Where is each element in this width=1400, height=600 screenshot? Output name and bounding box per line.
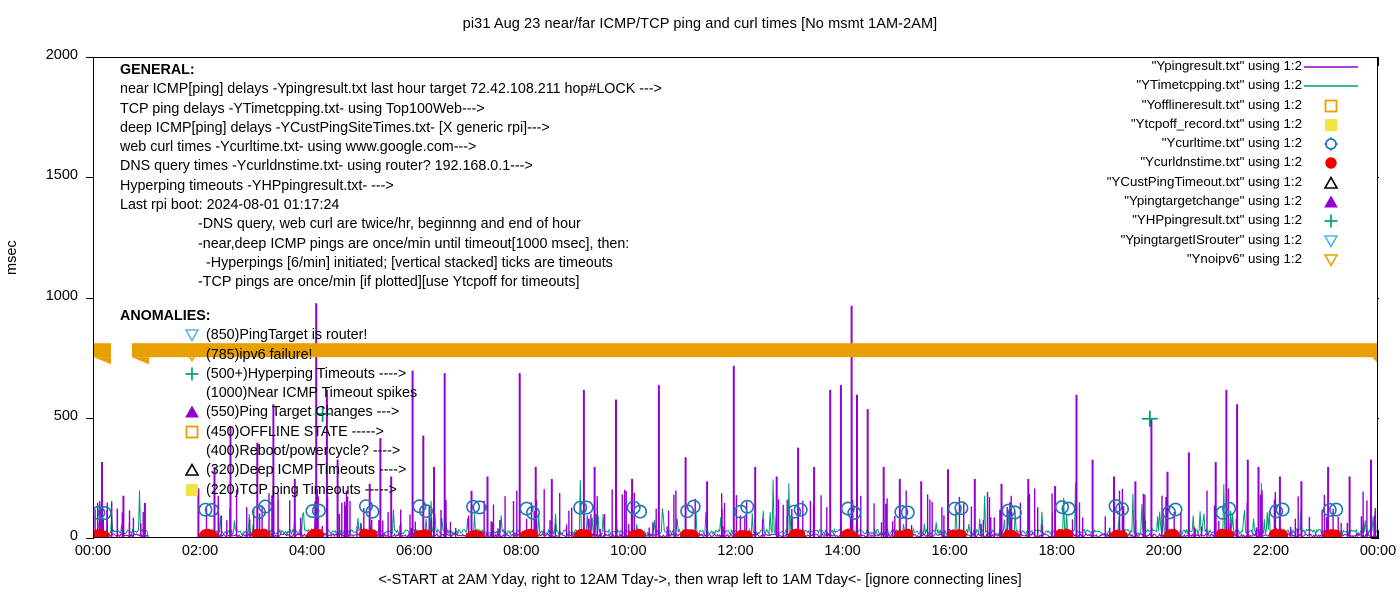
x-tick-label: 18:00 [1022, 543, 1092, 559]
anomalies-heading: ANOMALIES: [120, 307, 417, 326]
legend-item-ypingtargetchange: "Ypingtargetchange" using 1:2 [1000, 193, 1380, 212]
anomaly-row: (320)Deep ICMP Timeouts ----> [120, 461, 417, 480]
legend-item-ycurltime: "Ycurltime.txt" using 1:2 [1000, 135, 1380, 154]
data-point-dns [902, 529, 913, 538]
x-tick-label: 16:00 [915, 543, 985, 559]
general-line: Hyperping timeouts -YHPpingresult.txt- -… [120, 177, 662, 196]
anomaly-label: (450)OFFLINE STATE -----> [206, 424, 384, 440]
legend-key-ypingtargetchange-icon [1302, 193, 1360, 212]
general-line: DNS query times -Ycurldnstime.txt- using… [120, 157, 662, 176]
anomaly-row: (400)Reboot/powercycle? ----> [120, 442, 417, 461]
legend-label: "Ynoipv6" using 1:2 [1187, 251, 1302, 266]
legend-label: "Ytcpoff_record.txt" using 1:2 [1131, 116, 1302, 131]
legend-key-ytcpoff_record-icon [1302, 116, 1360, 135]
general-lines: near ICMP[ping] delays -Ypingresult.txt … [120, 80, 662, 215]
y-axis-label: msec [4, 240, 20, 275]
anomaly-row: (500+)Hyperping Timeouts ----> [120, 365, 417, 384]
legend-key-ycustpingtimeout-icon [1302, 174, 1360, 193]
legend-item-ypingtargetisrouter: "YpingtargetISrouter" using 1:2 [1000, 232, 1380, 251]
x-tick-label: 06:00 [379, 543, 449, 559]
anomaly-label: (550)Ping Target Changes ---> [206, 404, 399, 420]
legend-item-ycurldnstime: "Ycurldnstime.txt" using 1:2 [1000, 154, 1380, 173]
y-tick-label: 0 [18, 528, 78, 544]
anomaly-label: (500+)Hyperping Timeouts ----> [206, 366, 406, 382]
legend-label: "Ypingresult.txt" using 1:2 [1152, 58, 1302, 73]
legend-key-ypingtargetisrouter-icon [1302, 232, 1360, 251]
series-ycurltime-points [94, 500, 1342, 519]
chart-title: pi31 Aug 23 near/far ICMP/TCP ping and c… [0, 16, 1400, 32]
data-point-dns [955, 530, 966, 538]
data-point-dns [1223, 530, 1234, 538]
x-tick-label: 10:00 [593, 543, 663, 559]
anomaly-row: (220)TCP ping Timeouts -----> [120, 481, 417, 500]
data-point-dns [420, 530, 431, 538]
legend-item-ytimetcpping: "YTimetcpping.txt" using 1:2 [1000, 77, 1380, 96]
y-tick-mark [86, 538, 94, 539]
data-point-dns [1330, 531, 1341, 538]
general-indented-line: -DNS query, web curl are twice/hr, begin… [120, 215, 662, 234]
x-tick-label: 12:00 [701, 543, 771, 559]
data-point-dns [1117, 531, 1128, 538]
x-tick-label: 22:00 [1236, 543, 1306, 559]
general-indented-line: -TCP pings are once/min [if plotted][use… [120, 273, 662, 292]
anomalies-block: ANOMALIES: (850)PingTarget is router!(78… [120, 307, 417, 500]
series-yhppingresult-points [315, 406, 1158, 427]
y-tick-label: 500 [18, 408, 78, 424]
legend-label: "Yofflineresult.txt" using 1:2 [1142, 97, 1302, 112]
legend: "Ypingresult.txt" using 1:2"YTimetcpping… [1000, 58, 1380, 270]
anomaly-marker-plus-teal-icon [184, 366, 202, 383]
x-tick-label: 14:00 [808, 543, 878, 559]
anomaly-marker-square-open-orange-icon [184, 424, 202, 441]
x-tick-mark [1378, 530, 1379, 538]
general-heading: GENERAL: [120, 61, 662, 80]
anomaly-row: (1000)Near ICMP Timeout spikes [120, 384, 417, 403]
x-tick-label: 02:00 [165, 543, 235, 559]
legend-key-ytimetcpping-icon [1302, 77, 1360, 96]
data-point-dns [206, 530, 217, 538]
general-notes-block: GENERAL: near ICMP[ping] delays -Ypingre… [120, 61, 662, 293]
legend-item-yofflineresult: "Yofflineresult.txt" using 1:2 [1000, 97, 1380, 116]
data-point-dns [313, 529, 324, 538]
legend-label: "Ycurldnstime.txt" using 1:2 [1140, 154, 1302, 169]
anomaly-marker-square-filled-yellow-icon [184, 482, 202, 499]
anomaly-row: (850)PingTarget is router! [120, 326, 417, 345]
anomaly-row: (450)OFFLINE STATE -----> [120, 423, 417, 442]
general-line: TCP ping delays -YTimetcpping.txt- using… [120, 100, 662, 119]
data-point-dns [581, 530, 592, 538]
x-tick-label: 00:00 [1343, 543, 1400, 559]
data-point-dns [742, 531, 753, 538]
legend-item-yhppingresult: "YHPpingresult.txt" using 1:2 [1000, 212, 1380, 231]
anomaly-label: (320)Deep ICMP Timeouts ----> [206, 462, 406, 478]
anomaly-row: (785)ipv6 failure! [120, 346, 417, 365]
legend-key-ycurltime-icon [1302, 135, 1360, 154]
data-point-dns [527, 531, 538, 538]
anomaly-marker-triangle-open-black-icon [184, 462, 202, 479]
general-line: deep ICMP[ping] delays -YCustPingSiteTim… [120, 119, 662, 138]
legend-label: "Ycurltime.txt" using 1:2 [1162, 135, 1302, 150]
anomaly-marker-invtriangle-open-orange-icon [184, 347, 202, 364]
general-indented-lines: -DNS query, web curl are twice/hr, begin… [120, 215, 662, 292]
legend-key-ypingresult-icon [1302, 58, 1360, 77]
y-tick-label: 1000 [18, 288, 78, 304]
legend-label: "YTimetcpping.txt" using 1:2 [1136, 77, 1302, 92]
legend-item-ypingresult: "Ypingresult.txt" using 1:2 [1000, 58, 1380, 77]
legend-key-yofflineresult-icon [1302, 97, 1360, 116]
anomaly-label: (1000)Near ICMP Timeout spikes [206, 385, 417, 401]
anomalies-rows: (850)PingTarget is router!(785)ipv6 fail… [120, 326, 417, 500]
x-tick-label: 20:00 [1129, 543, 1199, 559]
chart-page: pi31 Aug 23 near/far ICMP/TCP ping and c… [0, 0, 1400, 600]
y-tick-label: 1500 [18, 167, 78, 183]
data-point-dns [1009, 532, 1020, 538]
general-indented-line: -near,deep ICMP pings are once/min until… [120, 235, 662, 254]
data-point-dns [688, 531, 699, 539]
data-point-dns [474, 531, 485, 538]
anomaly-marker-invtriangle-open-blue-icon [184, 327, 202, 344]
data-point-dns [1277, 530, 1288, 538]
data-point-dns [366, 530, 377, 538]
anomaly-row: (550)Ping Target Changes ---> [120, 403, 417, 422]
ynoipv6-marker-tail [1372, 357, 1378, 364]
legend-label: "YHPpingresult.txt" using 1:2 [1132, 212, 1302, 227]
ynoipv6-marker-tail [94, 357, 111, 364]
y-tick-mark-right [1371, 538, 1379, 539]
legend-label: "Ypingtargetchange" using 1:2 [1124, 193, 1302, 208]
legend-item-ycustpingtimeout: "YCustPingTimeout.txt" using 1:2 [1000, 174, 1380, 193]
x-tick-label: 04:00 [272, 543, 342, 559]
data-point-dns [634, 532, 645, 538]
legend-label: "YpingtargetISrouter" using 1:2 [1121, 232, 1302, 247]
legend-item-ynoipv6: "Ynoipv6" using 1:2 [1000, 251, 1380, 270]
general-line: Last rpi boot: 2024-08-01 01:17:24 [120, 196, 662, 215]
legend-key-ycurldnstime-icon [1302, 154, 1360, 173]
legend-label: "YCustPingTimeout.txt" using 1:2 [1107, 174, 1302, 189]
anomaly-label: (220)TCP ping Timeouts -----> [206, 482, 397, 498]
anomaly-marker-triangle-filled-purple-icon [184, 404, 202, 421]
legend-key-ynoipv6-icon [1302, 251, 1360, 270]
data-point-dns [98, 531, 109, 538]
general-line: near ICMP[ping] delays -Ypingresult.txt … [120, 80, 662, 99]
anomaly-label: (785)ipv6 failure! [206, 347, 313, 363]
x-tick-label: 08:00 [486, 543, 556, 559]
x-tick-label: 00:00 [58, 543, 128, 559]
x-axis-caption: <-START at 2AM Yday, right to 12AM Tday-… [0, 572, 1400, 588]
legend-key-yhppingresult-icon [1302, 212, 1360, 231]
general-line: web curl times -Ycurltime.txt- using www… [120, 138, 662, 157]
anomaly-label: (400)Reboot/powercycle? ----> [206, 443, 400, 459]
general-indented-line: -Hyperpings [6/min] initiated; [vertical… [120, 254, 662, 273]
legend-item-ytcpoff_record: "Ytcpoff_record.txt" using 1:2 [1000, 116, 1380, 135]
y-tick-label: 2000 [18, 47, 78, 63]
anomaly-label: (850)PingTarget is router! [206, 327, 367, 343]
ynoipv6-marker-run [94, 343, 111, 357]
